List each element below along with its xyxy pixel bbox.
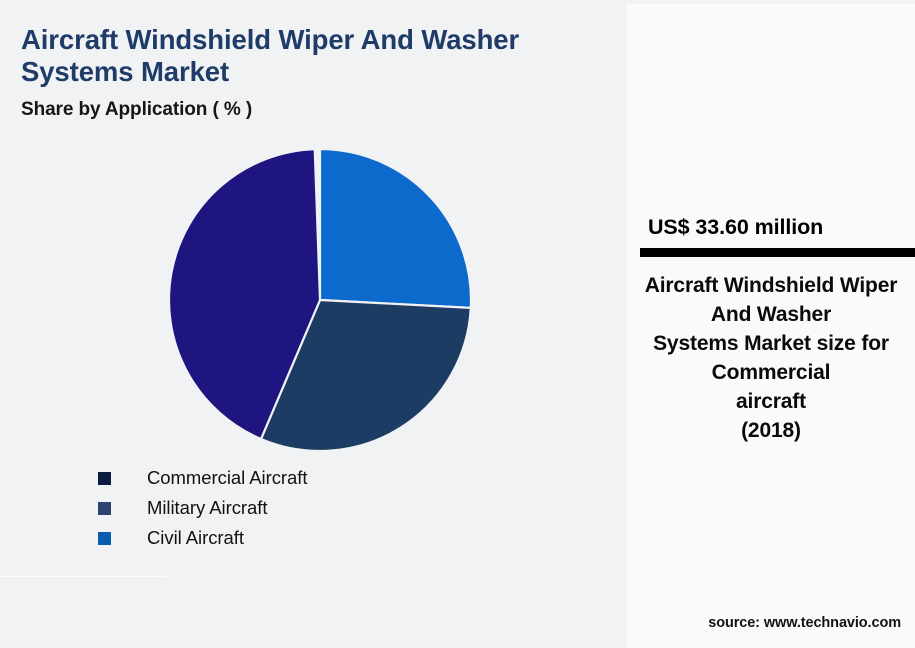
square-swatch-icon	[98, 472, 111, 485]
chart-subtitle: Share by Application ( % )	[21, 99, 252, 121]
pie-chart-svg	[169, 149, 471, 451]
pie-chart	[169, 149, 471, 451]
legend-item-civil-aircraft[interactable]: Civil Aircraft	[98, 523, 538, 553]
page-title: Aircraft Windshield Wiper And Washer Sys…	[21, 24, 601, 89]
square-swatch-icon	[98, 502, 111, 515]
stat-underline-bar	[640, 248, 915, 257]
source-attribution: source: www.technavio.com	[626, 615, 901, 631]
legend-item-military-aircraft[interactable]: Military Aircraft	[98, 493, 538, 523]
legend-item-label: Civil Aircraft	[147, 527, 244, 549]
pie-slice[interactable]	[320, 149, 471, 308]
chart-legend: Commercial Aircraft Military Aircraft Ci…	[98, 463, 538, 553]
chart-infographic: Aircraft Windshield Wiper And Washer Sys…	[0, 0, 915, 648]
legend-item-label: Commercial Aircraft	[147, 467, 307, 489]
square-swatch-icon	[98, 532, 111, 545]
chart-panel: Aircraft Windshield Wiper And Washer Sys…	[0, 0, 626, 648]
stat-value: US$ 33.60 million	[648, 215, 908, 240]
stat-description-line: Aircraft Windshield Wiper And Washer	[645, 274, 898, 326]
legend-item-label: Military Aircraft	[147, 497, 267, 519]
stat-description-line: (2018)	[741, 419, 801, 442]
divider	[0, 576, 166, 577]
stat-description-line: Systems Market size for Commercial	[653, 332, 889, 384]
legend-item-commercial-aircraft[interactable]: Commercial Aircraft	[98, 463, 538, 493]
callout-panel: US$ 33.60 million Aircraft Windshield Wi…	[626, 0, 915, 648]
stat-description: Aircraft Windshield Wiper And Washer Sys…	[638, 272, 904, 446]
panel-top-strip	[626, 0, 915, 7]
stat-description-line: aircraft	[736, 390, 806, 413]
